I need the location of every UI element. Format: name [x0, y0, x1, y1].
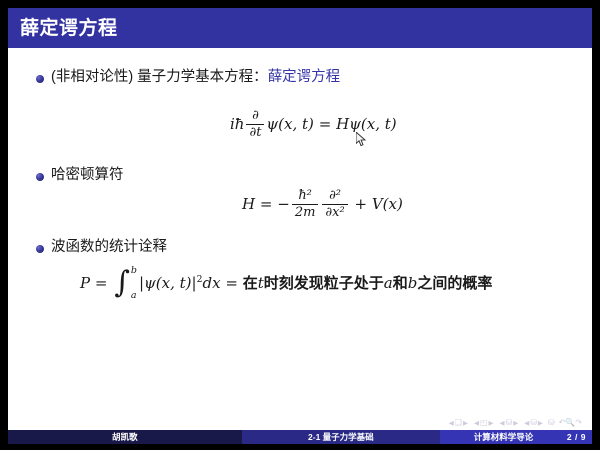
eq2-H: H — [242, 195, 255, 213]
bullet-1-plain: (非相对论性) 量子力学基本方程： — [51, 69, 268, 85]
bullet-item-2-text: 哈密顿算符 — [51, 166, 124, 184]
eq3-desc-post: 之间的概率 — [417, 274, 492, 292]
frame-nav-icon[interactable]: ◰ — [480, 418, 488, 427]
subsection-nav-icon[interactable]: ⛁ — [506, 418, 513, 427]
eq2-plus: + — [354, 195, 367, 213]
nav-section-group[interactable]: ◀⛁▶ — [523, 418, 544, 427]
eq3-desc-mid-2: 和 — [393, 274, 408, 292]
slide-title-bar: 薛定谔方程 — [8, 8, 592, 48]
eq1-psi-lhs: ψ(x, t) — [266, 115, 314, 133]
bullet-dot-icon — [36, 75, 44, 83]
eq3-equals-2: = — [225, 274, 238, 292]
bullet-dot-icon — [36, 173, 44, 181]
left-arrow-icon[interactable]: ◀ — [473, 419, 480, 427]
eq3-integral: ∫ba — [114, 269, 137, 297]
right-arrow-icon[interactable]: ▶ — [512, 419, 519, 427]
nav-appendix-group[interactable]: ⛁ — [548, 418, 555, 427]
equation-probability: P = ∫ba|ψ(x, t)|2dx = 在t时刻发现粒子处于a和b之间的概率 — [80, 270, 492, 298]
eq2-frac1-denominator: 2m — [292, 204, 319, 220]
slide-root: 薛定谔方程 (非相对论性) 量子力学基本方程：薛定谔方程 iħ∂∂tψ(x, t… — [0, 0, 600, 450]
footer-page-number: 2 / 9 — [567, 432, 592, 442]
beamer-slide: 薛定谔方程 (非相对论性) 量子力学基本方程：薛定谔方程 iħ∂∂tψ(x, t… — [8, 8, 592, 444]
right-arrow-icon[interactable]: ▶ — [488, 419, 495, 427]
eq2-minus: − — [277, 195, 290, 213]
back-icon[interactable]: ↶ — [559, 418, 566, 427]
left-arrow-icon[interactable]: ◀ — [523, 419, 530, 427]
equation-hamiltonian: H = −ħ²2m∂²∂x² + V(x) — [242, 190, 403, 220]
bullet-dot-icon — [36, 245, 44, 253]
bullet-item-1: (非相对论性) 量子力学基本方程：薛定谔方程 — [36, 68, 340, 86]
bullet-item-3: 波函数的统计诠释 — [36, 238, 167, 256]
eq3-desc-var-b: b — [408, 274, 418, 292]
nav-frame-group[interactable]: ◀◰▶ — [473, 418, 495, 427]
eq3-lower-limit: a — [131, 290, 137, 301]
footer-author: 胡凯歌 — [8, 430, 242, 444]
eq2-frac2-denominator: ∂x² — [322, 204, 347, 220]
search-icon[interactable]: 🔍 — [565, 418, 575, 427]
eq3-desc-var-a: a — [384, 274, 393, 292]
eq2-frac1-numerator: ħ² — [295, 189, 315, 203]
eq2-hbar-over-2m: ħ²2m — [292, 189, 319, 219]
eq3-desc-mid: 时刻发现粒子处于 — [264, 274, 384, 292]
appendix-nav-icon[interactable]: ⛁ — [548, 418, 555, 427]
eq1-ihbar: iħ — [230, 115, 244, 133]
eq3-integrand: |ψ(x, t)| — [139, 274, 197, 292]
eq1-rhs: Hψ(x, t) — [336, 115, 397, 133]
eq3-desc-pre: 在 — [243, 274, 258, 292]
eq2-equals: = — [260, 195, 273, 213]
right-arrow-icon[interactable]: ▶ — [537, 419, 544, 427]
eq3-P: P — [80, 274, 90, 292]
left-arrow-icon[interactable]: ◀ — [499, 419, 506, 427]
beamer-navigation-bar[interactable]: ◀❑▶ ◀◰▶ ◀⛁▶ ◀⛁▶ ⛁ ↶🔍↷ — [448, 416, 586, 429]
eq2-second-derivative: ∂²∂x² — [322, 189, 347, 219]
eq1-frac-denominator: ∂t — [246, 124, 264, 140]
bullet-item-1-text: (非相对论性) 量子力学基本方程：薛定谔方程 — [51, 68, 340, 86]
slide-body: (非相对论性) 量子力学基本方程：薛定谔方程 iħ∂∂tψ(x, t) = Hψ… — [8, 48, 592, 418]
bullet-1-highlight: 薛定谔方程 — [268, 69, 341, 85]
section-nav-icon[interactable]: ⛁ — [530, 418, 537, 427]
eq2-frac2-numerator: ∂² — [326, 189, 344, 203]
footer-section: 2-1 量子力学基础 — [242, 430, 441, 444]
slide-nav-icon[interactable]: ❑ — [455, 418, 462, 427]
eq3-measure: dx — [203, 274, 221, 292]
integral-sign-icon: ∫ — [114, 272, 130, 294]
page-title: 薛定谔方程 — [20, 19, 118, 38]
bullet-item-3-text: 波函数的统计诠释 — [51, 238, 167, 256]
slide-footer: 胡凯歌 2-1 量子力学基础 计算材料学导论 2 / 9 — [8, 430, 592, 444]
eq1-frac-numerator: ∂ — [249, 109, 262, 123]
eq3-upper-limit: b — [131, 265, 137, 276]
eq1-equals: = — [319, 115, 332, 133]
eq3-integral-limits: ba — [131, 269, 137, 297]
nav-subsection-group[interactable]: ◀⛁▶ — [499, 418, 520, 427]
equation-schrodinger: iħ∂∂tψ(x, t) = Hψ(x, t) — [230, 110, 397, 140]
footer-presentation-title: 计算材料学导论 — [440, 431, 567, 443]
nav-slide-group[interactable]: ◀❑▶ — [448, 418, 469, 427]
bullet-item-2: 哈密顿算符 — [36, 166, 124, 184]
right-arrow-icon[interactable]: ▶ — [462, 419, 469, 427]
eq1-time-derivative-fraction: ∂∂t — [246, 109, 264, 139]
eq3-equals: = — [95, 274, 108, 292]
eq2-potential: V(x) — [372, 195, 403, 213]
left-arrow-icon[interactable]: ◀ — [448, 419, 455, 427]
nav-history-group[interactable]: ↶🔍↷ — [559, 418, 582, 427]
footer-title-block: 计算材料学导论 2 / 9 — [440, 430, 592, 444]
forward-icon[interactable]: ↷ — [575, 418, 582, 427]
